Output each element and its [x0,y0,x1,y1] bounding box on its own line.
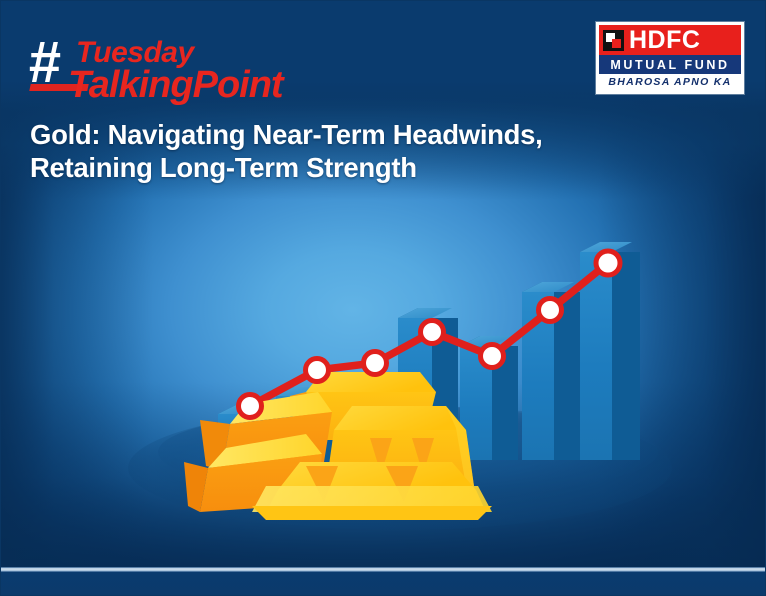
page-title: Gold: Navigating Near-Term Headwinds, Re… [30,118,720,184]
page-title-line-1: Gold: Navigating Near-Term Headwinds, [30,119,543,150]
brand-line-2: TalkingPoint [68,66,283,104]
hdfc-square-mark-icon [603,30,624,51]
logo-tagline: BHAROSA APNO KA [608,77,731,87]
logo-subtitle: MUTUAL FUND [610,59,729,71]
poster-canvas: # Tuesday TalkingPoint HDFC MUTUAL FUND … [0,0,766,596]
divider-rule [0,567,766,572]
logo-row-subtitle: MUTUAL FUND [599,55,741,74]
page-title-line-2: Retaining Long-Term Strength [30,151,720,184]
footer-fill [0,572,766,596]
logo-row-tagline: BHAROSA APNO KA [599,74,741,90]
hdfc-mutual-fund-logo: HDFC MUTUAL FUND BHAROSA APNO KA [596,22,744,94]
logo-row-brand: HDFC [599,25,741,55]
gold-bar-front [252,486,492,520]
tuesday-talking-point-logo: # Tuesday TalkingPoint [28,30,318,100]
logo-brand-name: HDFC [629,28,700,53]
